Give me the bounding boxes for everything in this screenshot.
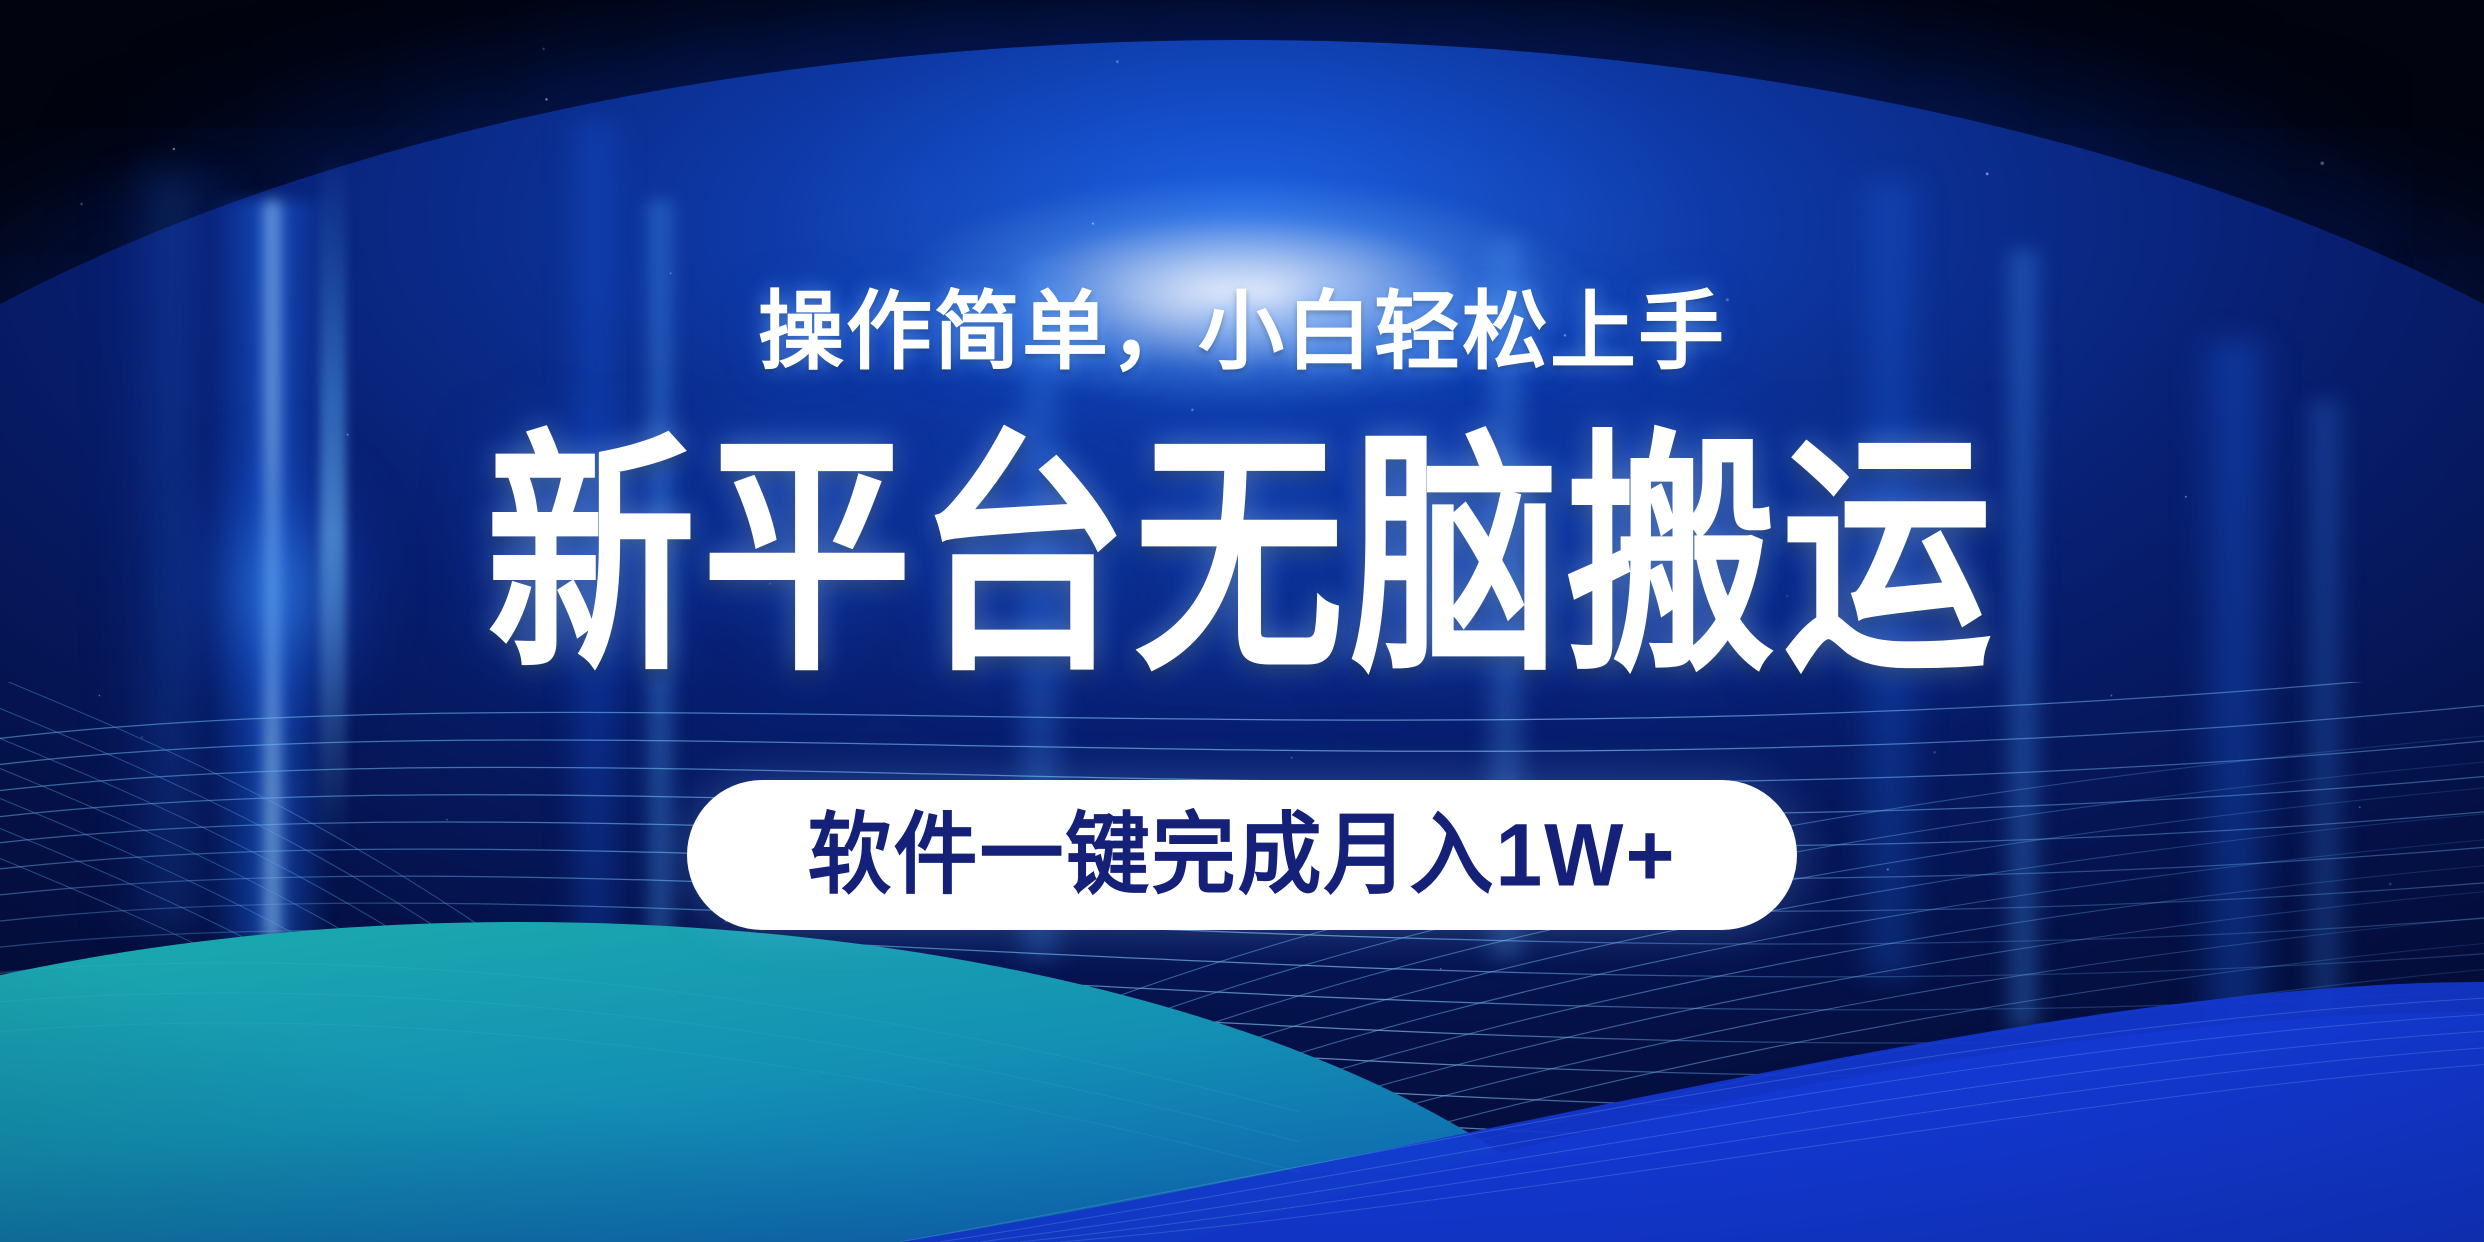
kicker-text: 操作简单，小白轻松上手 xyxy=(0,289,2484,375)
promo-poster: 操作简单，小白轻松上手 新平台无脑搬运 软件一键完成月入1W+ xyxy=(0,0,2484,1242)
headline-text: 新平台无脑搬运 xyxy=(0,430,2484,686)
cta-pill-label: 软件一键完成月入1W+ xyxy=(807,810,1676,899)
poster-content: 操作简单，小白轻松上手 新平台无脑搬运 软件一键完成月入1W+ xyxy=(0,0,2484,1242)
cta-pill[interactable]: 软件一键完成月入1W+ xyxy=(687,780,1797,930)
